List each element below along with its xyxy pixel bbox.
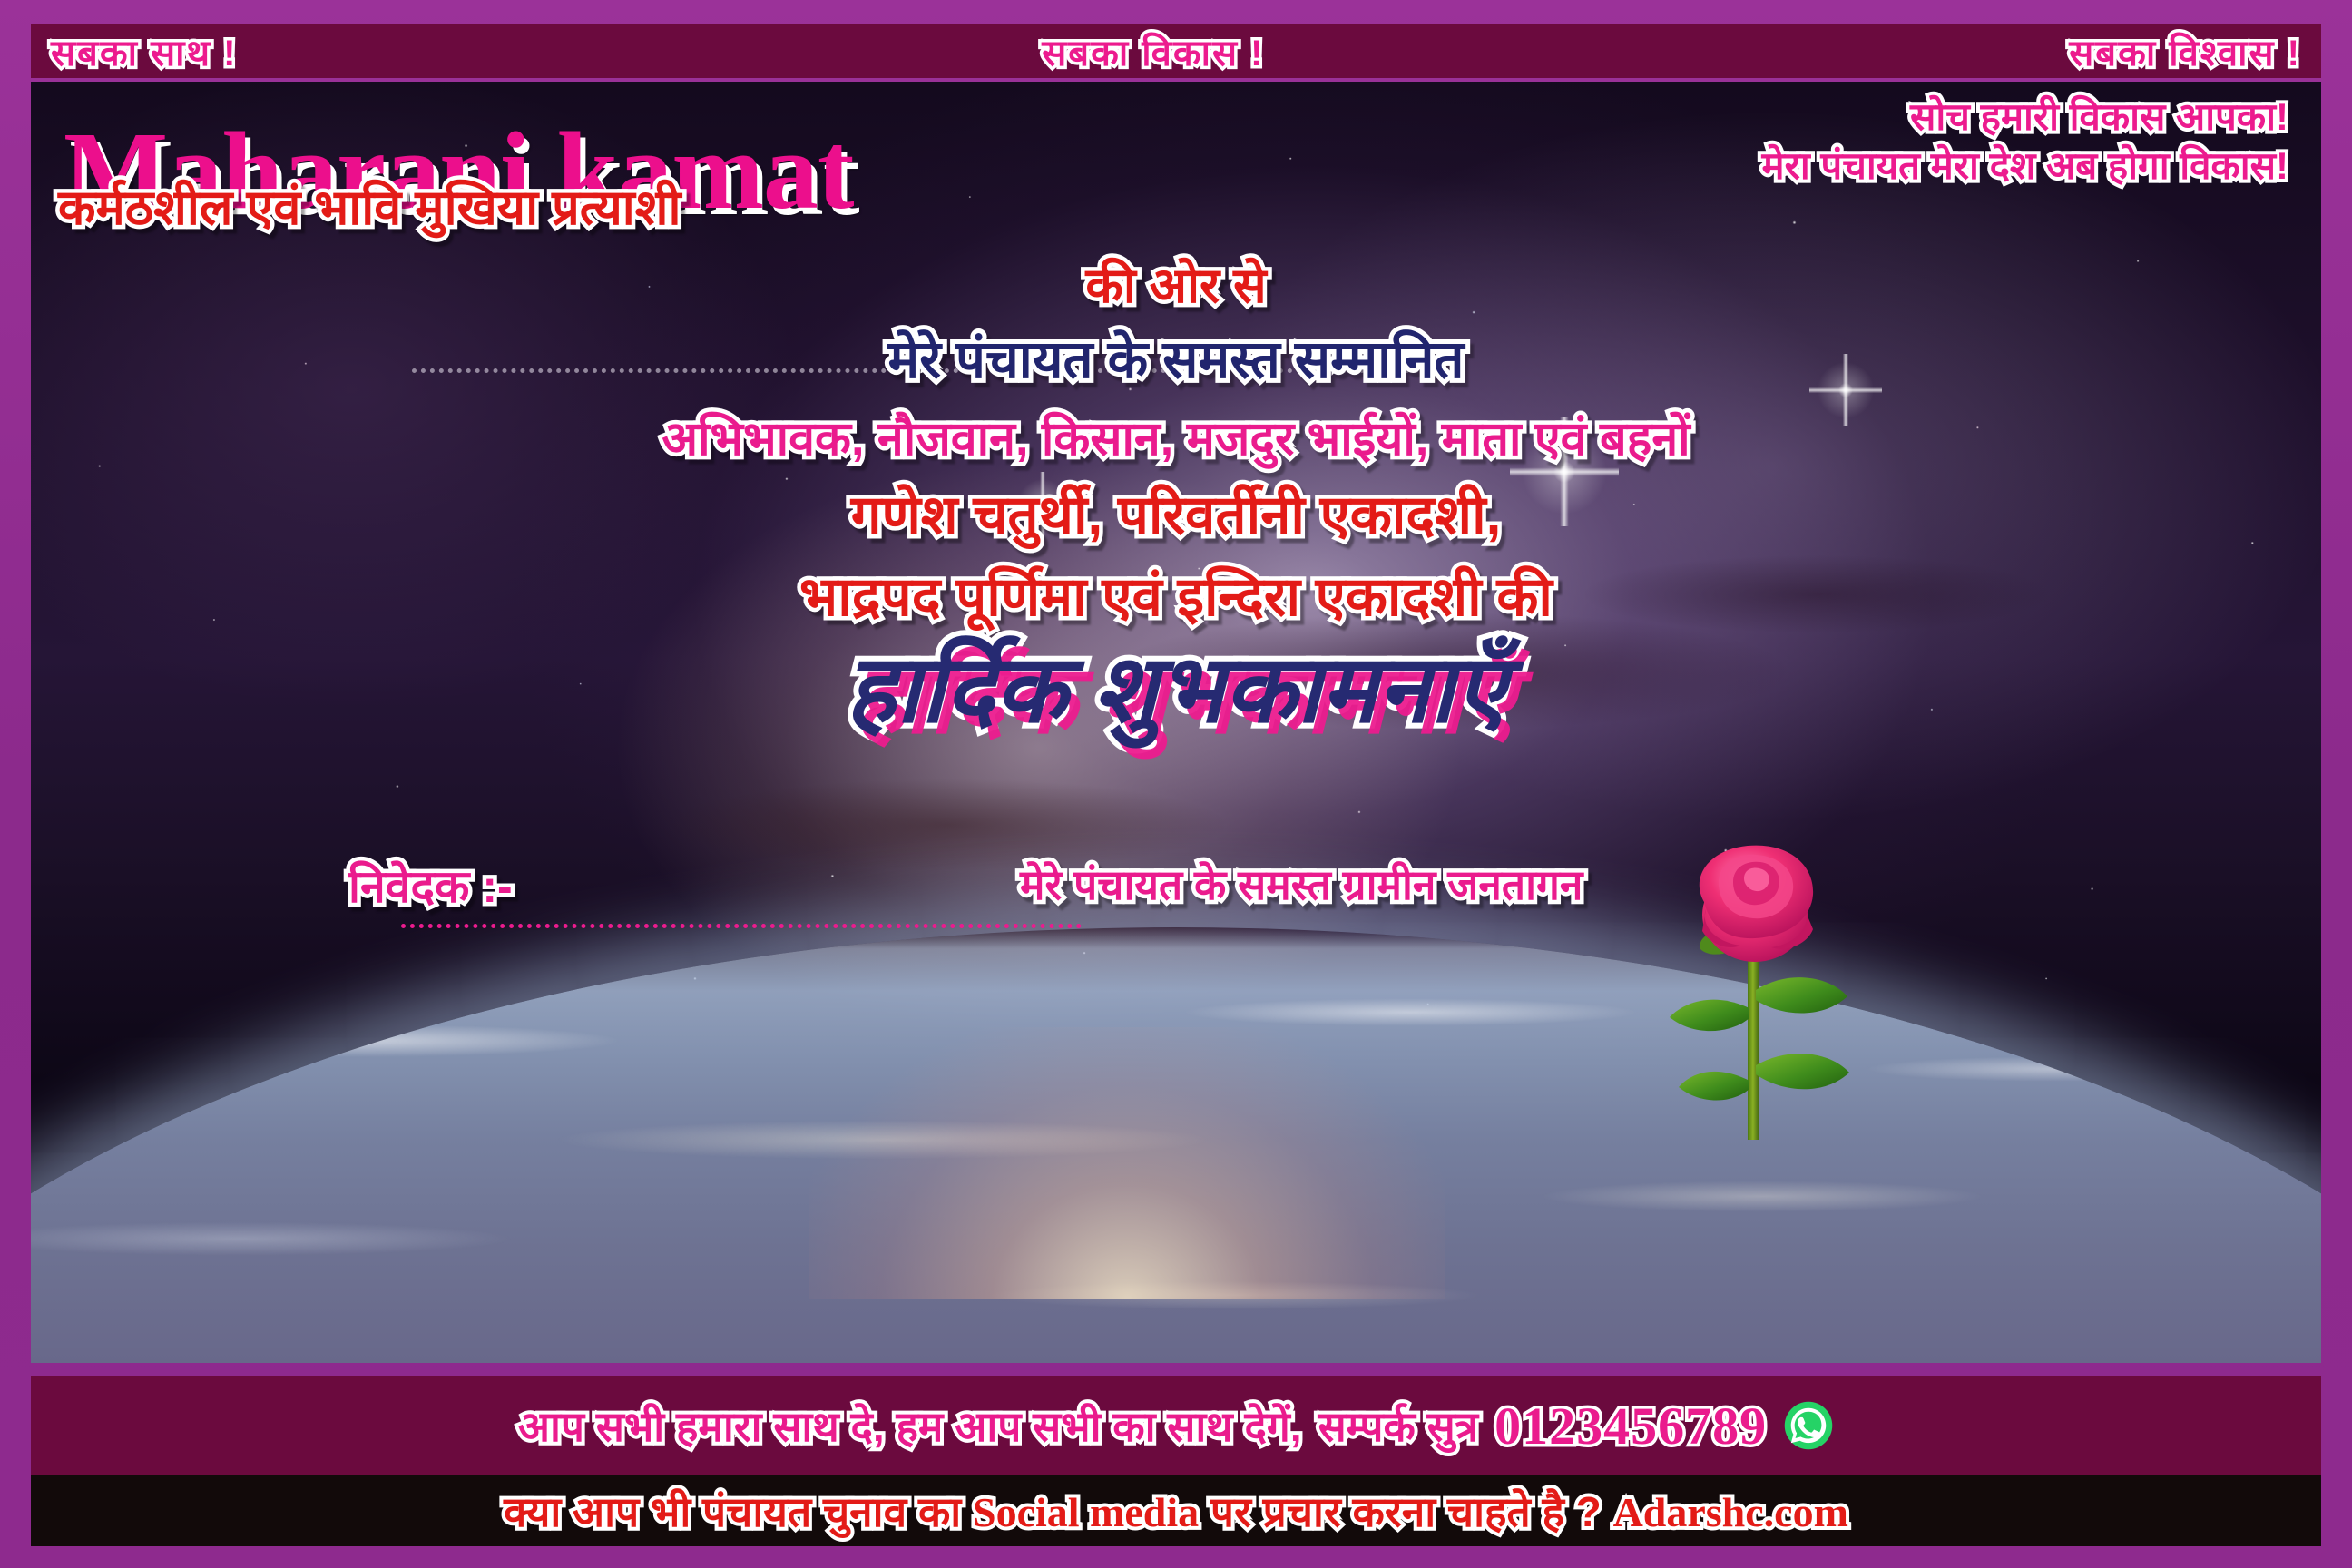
poster-content: Maharani kamat सोच हमारी विकास आपका! मेर… [31,82,2321,1363]
rose-icon [1653,831,1880,1149]
promo-social-media: Social media [973,1489,1199,1535]
promo-line: क्या आप भी पंचायत चुनाव का Social media … [504,1483,1848,1539]
tagline-two: मेरा पंचायत मेरा देश अब होगा विकास! [1762,147,2288,185]
contact-line: आप सभी हमारा साथ दे, हम आप सभी का साथ दे… [518,1396,1834,1456]
greeting-headline: हार्दिक शुभकामनाएँ [31,642,2321,737]
contact-band: आप सभी हमारा साथ दे, हम आप सभी का साथ दे… [31,1376,2321,1475]
phone-number[interactable]: 0123456789 [1494,1396,1767,1456]
contact-label: सम्पर्क सुत्र [1318,1397,1479,1454]
addressee-line-one: मेरे पंचायत के समस्त सम्मानित [31,334,2321,387]
appeal-text: आप सभी हमारा साथ दे, हम आप सभी का साथ दे… [518,1397,1302,1454]
whatsapp-icon[interactable] [1783,1400,1834,1451]
candidate-role-line: कर्मठशील एवं भावि मुखिया प्रत्याशी [58,183,681,232]
promo-pre-text: क्या आप भी पंचायत चुनाव का [504,1488,973,1535]
space-background: Maharani kamat सोच हमारी विकास आपका! मेर… [31,82,2321,1363]
slogan-sabka-vishwas: सबका विश्वास ! [2069,26,2301,76]
addressee-line-two: अभिभावक, नौजवान, किसान, मजदुर भाईयों, मा… [31,416,2321,463]
slogan-sabka-saath: सबका साथ ! [51,26,237,76]
slogan-sabka-vikas: सबका विकास ! [1042,26,1264,76]
promo-website[interactable]: Adarshc.com [1613,1489,1848,1535]
sender-value: मेरे पंचायत के समस्त ग्रामीन जनतागन [1020,864,1583,906]
poster-canvas: सबका साथ ! सबका विकास ! सबका विश्वास ! M… [0,0,2352,1568]
promo-mid-text: पर प्रचार करना चाहते है ? [1199,1488,1612,1535]
top-slogan-band: सबका साथ ! सबका विकास ! सबका विश्वास ! [31,24,2321,78]
sender-label: निवेदक :- [348,864,513,909]
festival-line-two: भाद्रपद पूर्णिमा एवं इन्दिरा एकादशी की [31,570,2321,624]
tagline-one: सोच हमारी विकास आपका! [1910,98,2288,136]
sender-dotted-rule [401,924,1082,928]
promo-band: क्या आप भी पंचायत चुनाव का Social media … [31,1475,2321,1546]
festival-line-one: गणेश चतुर्थी, परिवर्तीनी एकादशी, [31,488,2321,543]
from-line: की ओर से [31,261,2321,310]
